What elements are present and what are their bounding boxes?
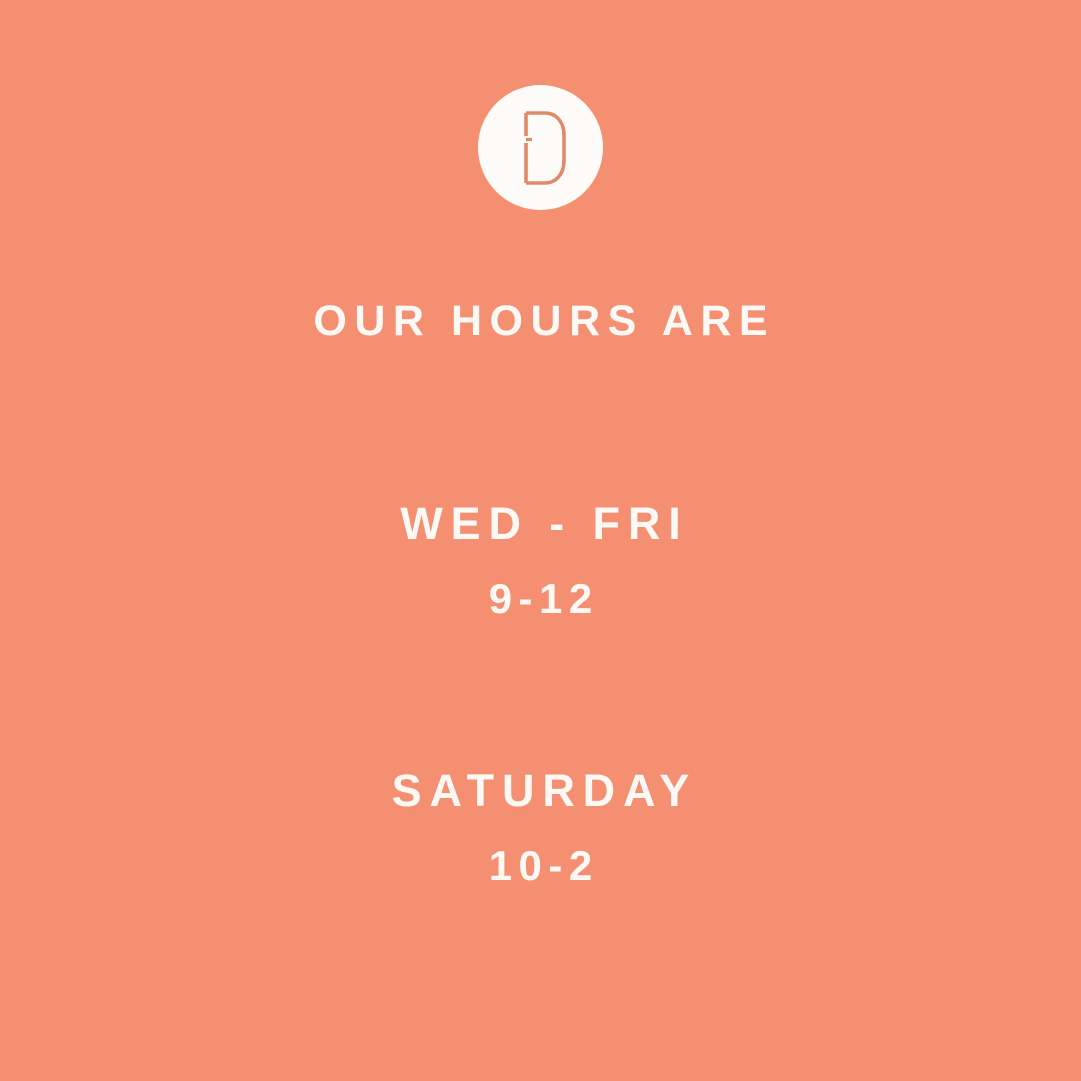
- schedule-days: WED - FRI: [0, 501, 1081, 546]
- schedule-entry: SATURDAY 10-2: [0, 768, 1081, 887]
- schedule-hours: 10-2: [0, 845, 1081, 887]
- page-title: OUR HOURS ARE: [0, 300, 1081, 343]
- hours-poster: OUR HOURS ARE WED - FRI 9-12 SATURDAY 10…: [0, 0, 1081, 1081]
- id-monogram-icon: [512, 109, 570, 187]
- schedule-entry: WED - FRI 9-12: [0, 501, 1081, 620]
- schedule-hours: 9-12: [0, 578, 1081, 620]
- hours-content: OUR HOURS ARE WED - FRI 9-12 SATURDAY 10…: [0, 300, 1081, 887]
- schedule-days: SATURDAY: [0, 768, 1081, 813]
- logo-circle-badge: [478, 85, 603, 210]
